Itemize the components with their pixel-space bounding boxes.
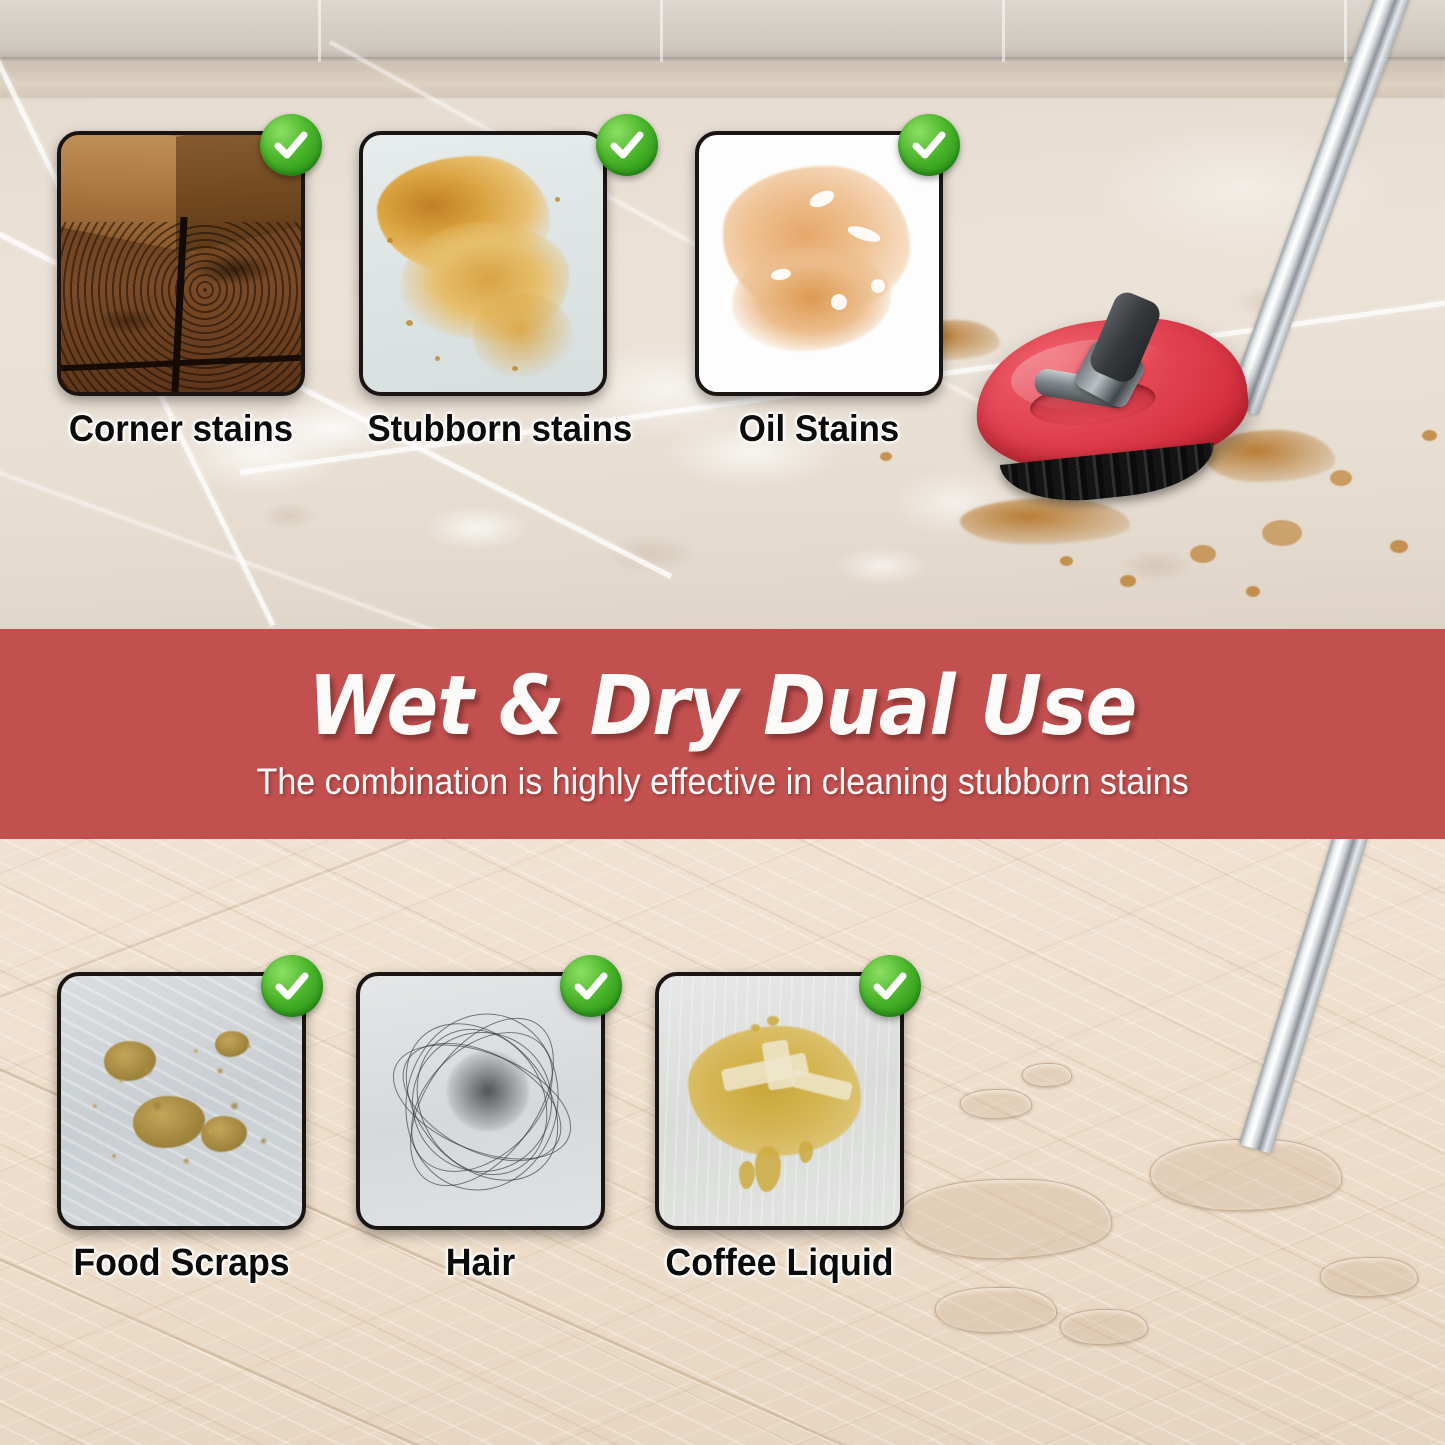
check-icon [260,114,322,176]
water-droplet [1022,1063,1072,1087]
stain-splatter [1390,540,1408,553]
stain-splatter [1262,520,1302,546]
thumbnail-oil-stains [695,131,943,396]
stain-speck [435,356,440,361]
check-icon [859,955,921,1017]
card-label: Oil Stains [702,410,935,449]
feature-card-corner-stains: Corner stains [57,131,305,449]
water-puddle [1060,1309,1148,1345]
feature-card-oil-stains: Oil Stains [695,131,943,449]
feature-card-stubborn-stains: Stubborn stains [359,131,641,449]
card-label: Hair [363,1244,597,1284]
check-icon [560,955,622,1017]
stain-smear [960,498,1130,544]
stain-splatter [1190,545,1216,563]
top-feature-cards: Corner stains Stub [57,131,943,449]
banner-subtitle: The combination is highly effective in c… [256,762,1188,803]
stain-splatter [1120,575,1136,587]
water-puddle [935,1287,1057,1333]
stain-splatter [1060,556,1073,566]
thumbnail-stubborn-stains [359,131,607,396]
card-label: Food Scraps [64,1244,298,1284]
water-droplet [960,1089,1032,1119]
thumbnail-coffee-liquid [655,972,904,1230]
oil-highlight [831,294,847,310]
water-puddle [1150,1139,1342,1211]
stain-splatter [1330,470,1352,486]
coffee-droplet [751,1024,760,1032]
feature-card-coffee-liquid: Coffee Liquid [655,972,904,1284]
thumbnail-corner-stains [57,131,305,396]
stain-speck [555,197,560,202]
check-icon [261,955,323,1017]
stain-speck [406,320,413,326]
card-label: Stubborn stains [367,410,632,449]
oil-blot [732,248,890,351]
stain-splatter [880,452,892,461]
water-puddle [900,1179,1112,1259]
feature-card-food-scraps: Food Scraps [57,972,306,1284]
stain-splatter [1422,430,1437,441]
thumbnail-food-scraps [57,972,306,1230]
headline-banner: Wet & Dry Dual Use The combination is hi… [0,629,1445,839]
product-marketing-poster: Corner stains Stub [0,0,1445,1445]
food-crumbs [61,976,302,1226]
banner-title: Wet & Dry Dual Use [308,666,1136,748]
water-puddle [1320,1257,1418,1297]
stain-blot [473,294,574,376]
top-scene-tile-floor: Corner stains Stub [0,0,1445,629]
stain-speck [387,238,393,243]
check-icon [898,114,960,176]
scrub-brush-head [968,306,1254,484]
stain-splatter [1246,586,1260,597]
hair-tangle [447,1051,529,1131]
card-label: Corner stains [64,410,297,449]
card-label: Coffee Liquid [662,1244,896,1284]
bottom-feature-cards: Food Scraps [57,972,904,1284]
bottom-scene-wood-floor: Food Scraps [0,839,1445,1445]
thumbnail-hair [356,972,605,1230]
feature-card-hair: Hair [356,972,605,1284]
check-icon [596,114,658,176]
